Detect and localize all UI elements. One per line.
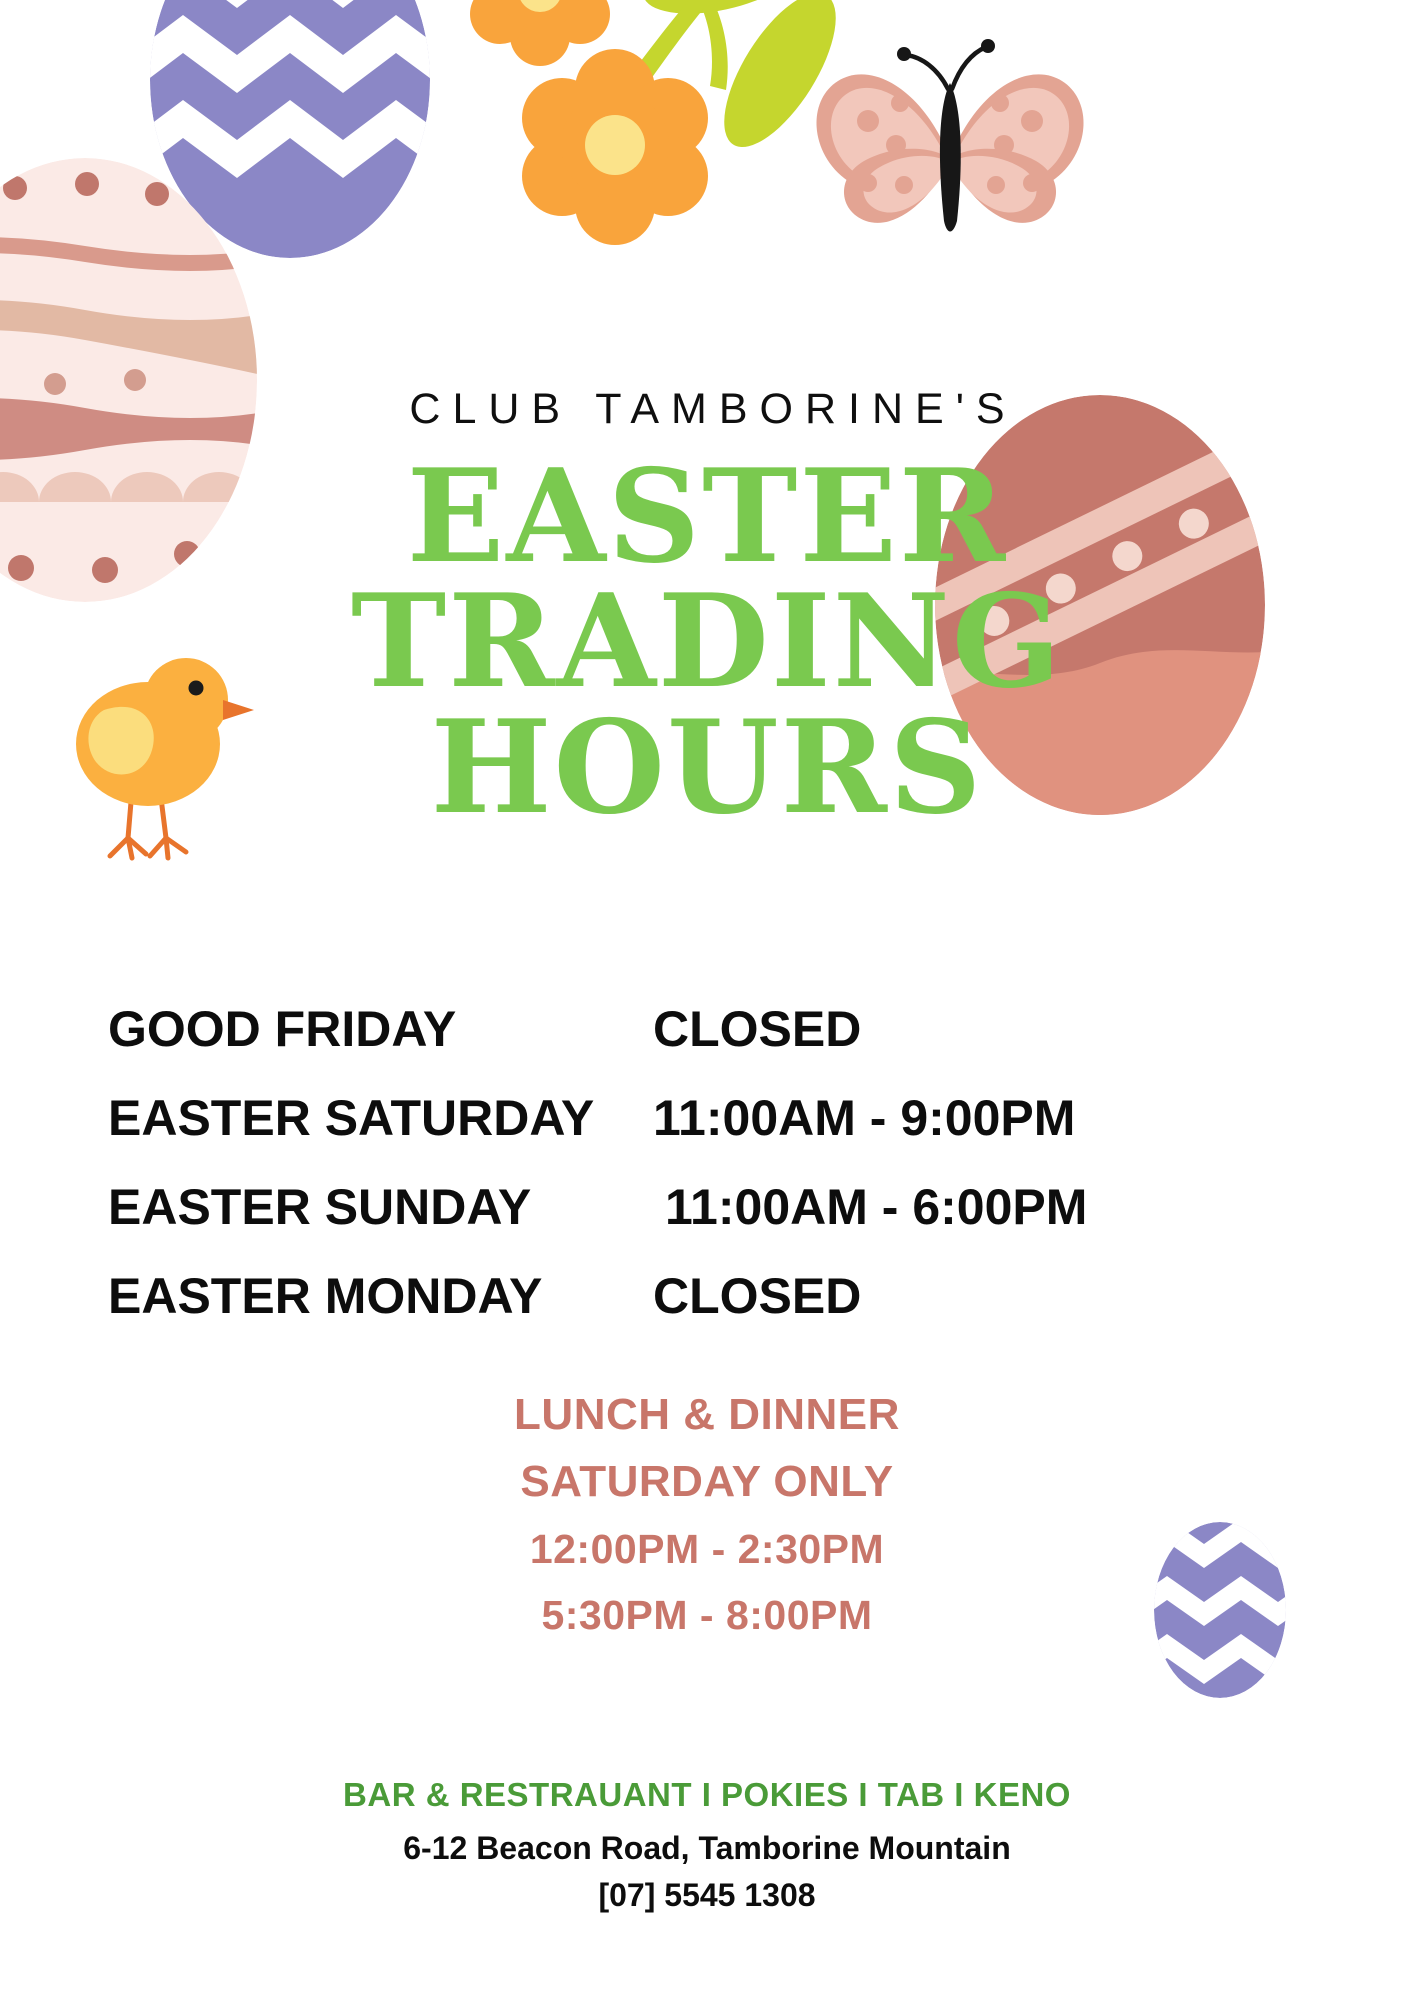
page-title: EASTER TRADING HOURS (0, 455, 1414, 831)
hours-day-label: GOOD FRIDAY (108, 1000, 653, 1058)
hours-day-label: EASTER SUNDAY (108, 1178, 653, 1236)
easter-trading-hours-poster: CLUB TAMBORINE'S EASTER TRADING HOURS GO… (0, 0, 1414, 2000)
headline-line-hours: HOURS (0, 706, 1414, 831)
headline-line-easter: EASTER (0, 455, 1414, 580)
trading-hours-table: GOOD FRIDAY CLOSED EASTER SATURDAY 11:00… (108, 1000, 1308, 1356)
eyebrow-club-name: CLUB TAMBORINE'S (0, 385, 1414, 434)
footer-address: 6-12 Beacon Road, Tamborine Mountain (0, 1830, 1414, 1867)
footer-phone: [07] 5545 1308 (0, 1877, 1414, 1914)
flowers-daisy-icon (470, 0, 890, 280)
table-row: GOOD FRIDAY CLOSED (108, 1000, 1308, 1089)
hours-time-value: CLOSED (653, 1267, 861, 1325)
butterfly-icon (800, 35, 1100, 255)
egg-purple-chevron-icon (130, 0, 450, 260)
headline-line-trading: TRADING (0, 580, 1414, 705)
meal-service-block: LUNCH & DINNER SATURDAY ONLY 12:00PM - 2… (0, 1382, 1414, 1649)
hours-time-value: CLOSED (653, 1000, 861, 1058)
hours-time-value: 11:00AM - 6:00PM (653, 1178, 1087, 1236)
hours-day-label: EASTER SATURDAY (108, 1089, 653, 1147)
footer-contact-block: BAR & RESTRAUANT I POKIES I TAB I KENO 6… (0, 1776, 1414, 1914)
hours-time-value: 11:00AM - 9:00PM (653, 1089, 1075, 1147)
meal-time-dinner: 5:30PM - 8:00PM (0, 1582, 1414, 1648)
meal-time-lunch: 12:00PM - 2:30PM (0, 1516, 1414, 1582)
hours-day-label: EASTER MONDAY (108, 1267, 653, 1325)
meal-heading-saturday-only: SATURDAY ONLY (0, 1449, 1414, 1516)
table-row: EASTER SATURDAY 11:00AM - 9:00PM (108, 1089, 1308, 1178)
footer-services-list: BAR & RESTRAUANT I POKIES I TAB I KENO (0, 1776, 1414, 1814)
table-row: EASTER SUNDAY 11:00AM - 6:00PM (108, 1178, 1308, 1267)
meal-heading-lunch-dinner: LUNCH & DINNER (0, 1382, 1414, 1449)
table-row: EASTER MONDAY CLOSED (108, 1267, 1308, 1356)
